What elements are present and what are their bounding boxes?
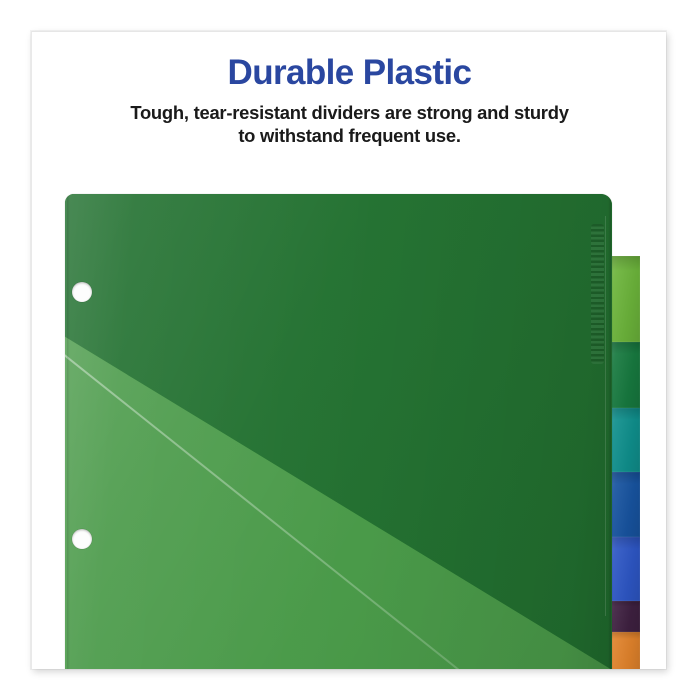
page-title: Durable Plastic [32, 55, 666, 92]
subtitle-line-2: to withstand frequent use. [238, 125, 460, 146]
punch-hole-top-hole [72, 282, 92, 302]
punch-hole-bottom-hole [72, 529, 92, 549]
green-plastic-divider [65, 194, 612, 669]
binding-edge-line [605, 216, 607, 616]
subtitle-line-1: Tough, tear-resistant dividers are stron… [130, 102, 568, 123]
screenshot-canvas: Durable Plastic Tough, tear-resistant di… [0, 0, 700, 700]
left-fold-shadow [67, 194, 70, 669]
headline-block: Durable Plastic Tough, tear-resistant di… [32, 32, 666, 148]
binding-edge-texture [591, 224, 604, 364]
product-image-frame: Durable Plastic Tough, tear-resistant di… [31, 31, 666, 669]
page-subtitle: Tough, tear-resistant dividers are stron… [32, 101, 666, 148]
right-fold-shadow [608, 194, 611, 669]
divider-surface-sheen [65, 194, 612, 669]
